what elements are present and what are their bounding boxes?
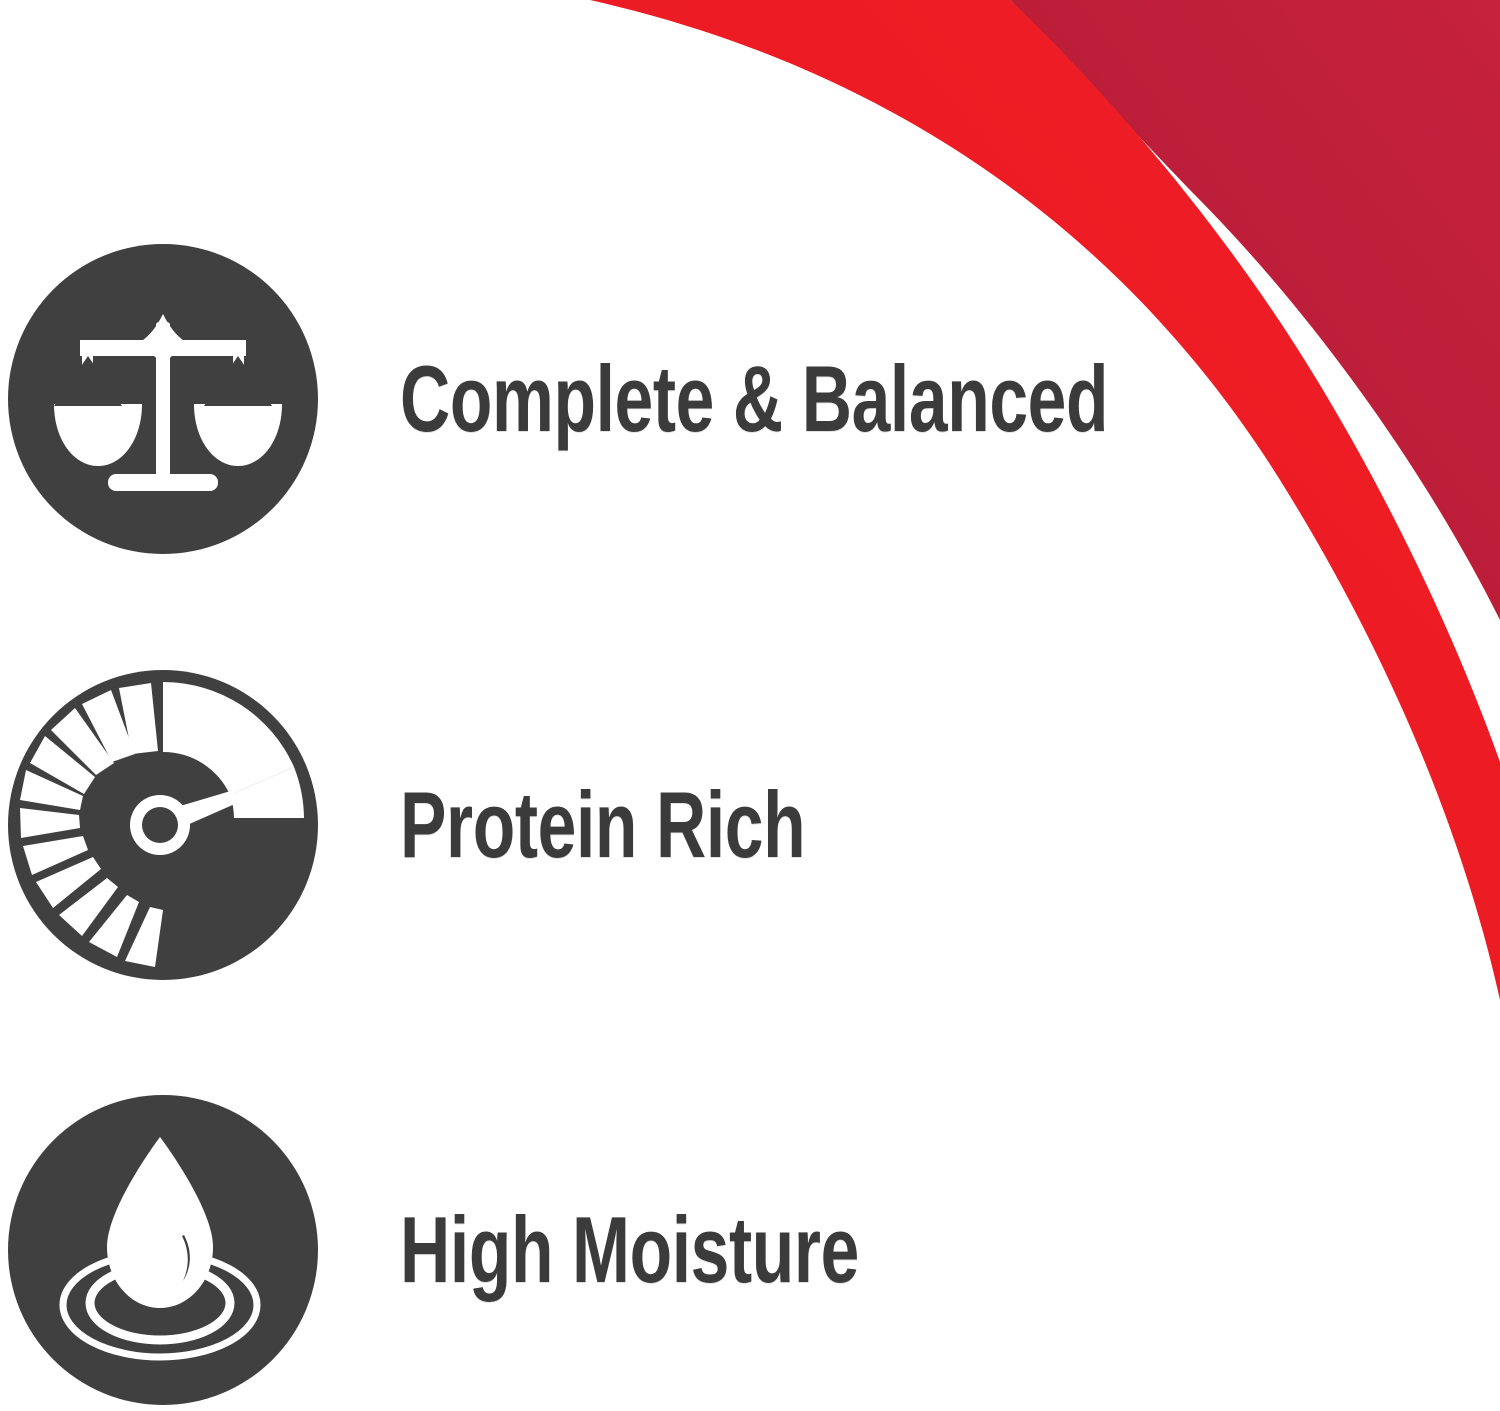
feature-label: Complete & Balanced — [400, 352, 1108, 446]
gauge-meter-icon — [8, 670, 318, 980]
benefits-panel: Complete & Balanced — [0, 0, 1500, 1411]
feature-row: Complete & Balanced — [0, 244, 1200, 554]
balance-scale-icon — [8, 244, 318, 554]
feature-label: Protein Rich — [400, 778, 805, 872]
water-droplet-icon — [8, 1095, 318, 1405]
feature-row: High Moisture — [0, 1095, 1200, 1405]
feature-label: High Moisture — [400, 1203, 859, 1297]
feature-row: Protein Rich — [0, 670, 1200, 980]
